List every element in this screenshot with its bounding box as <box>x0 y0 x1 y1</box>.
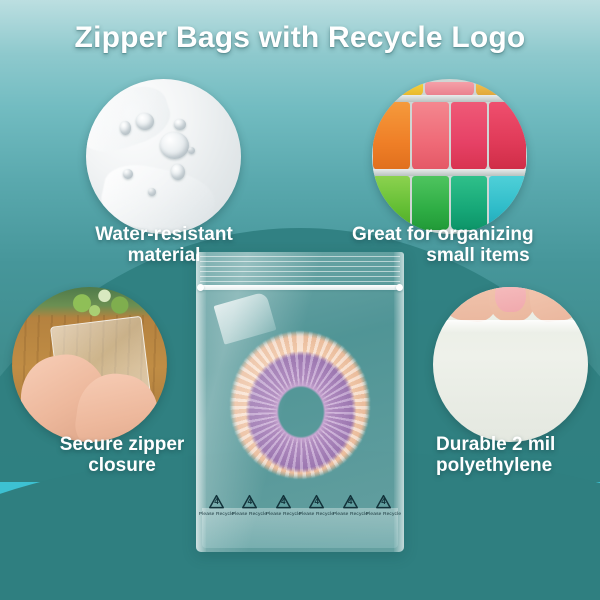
page-title: Zipper Bags with Recycle Logo <box>0 21 600 55</box>
infographic-canvas: Zipper Bags with Recycle Logo <box>0 0 600 600</box>
recycle-label: Please Recycle <box>361 511 404 518</box>
feature-caption-polyethylene: Durable 2 mil polyethylene <box>436 434 600 476</box>
caption-line-1: Water-resistant <box>95 224 233 245</box>
caption-line-2: polyethylene <box>436 455 600 476</box>
product-zipper-bag: 4 Please Recycle 4 Please Recycle 4 Plea… <box>196 252 404 552</box>
feature-image-polyethylene <box>433 287 588 442</box>
recycle-code: 4 <box>233 497 266 506</box>
colored-beads-bags-icon <box>372 79 527 234</box>
recycle-code: 4 <box>367 497 400 506</box>
water-droplets-icon <box>86 79 241 234</box>
feature-image-zipper-closure <box>12 287 167 442</box>
recycle-code: 4 <box>300 497 333 506</box>
feature-image-water-resistant <box>86 79 241 234</box>
fingers-holding-film-icon <box>433 287 588 442</box>
recycle-code: 4 <box>267 497 300 506</box>
caption-line-1: Secure zipper <box>60 434 185 455</box>
recycle-logo-strip: 4 Please Recycle 4 Please Recycle 4 Plea… <box>196 494 404 516</box>
recycle-code: 4 <box>334 497 367 506</box>
hands-opening-bag-icon <box>12 287 167 442</box>
recycle-mark: 4 Please Recycle <box>367 494 400 516</box>
caption-line-1: Great for organizing <box>352 224 534 245</box>
caption-line-1: Durable 2 mil <box>436 434 555 455</box>
recycle-code: 4 <box>200 497 233 506</box>
feature-image-organizing <box>372 79 527 234</box>
zipper-end-right <box>396 284 403 291</box>
